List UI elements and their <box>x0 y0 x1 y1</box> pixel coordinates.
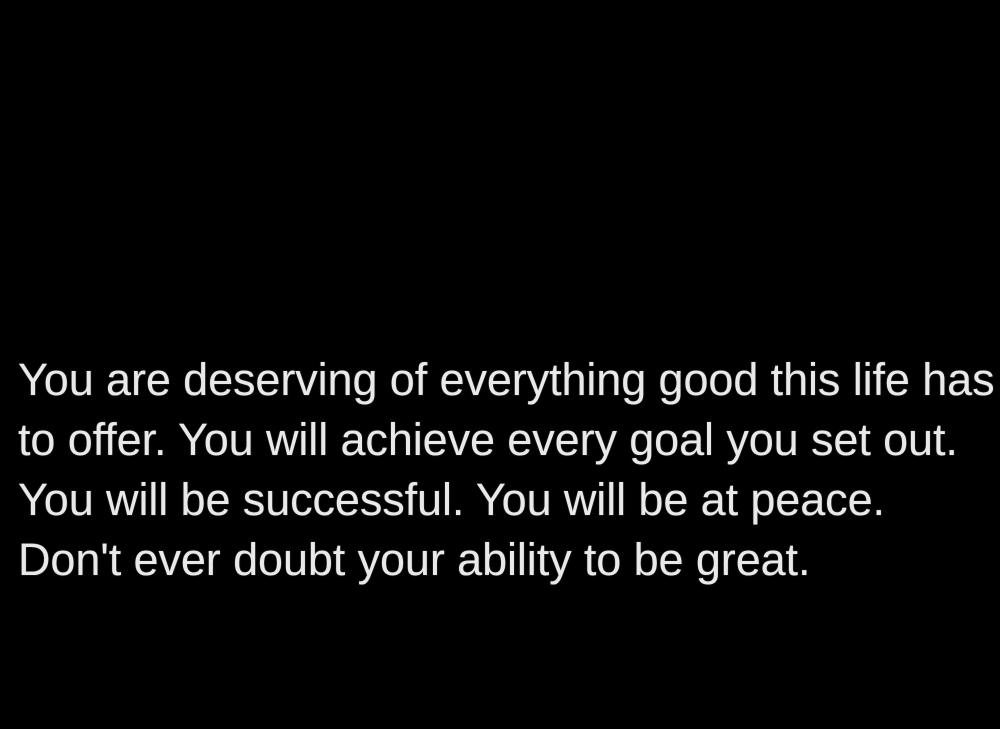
quote-line-3: You will be successful. You will be at p… <box>18 470 982 530</box>
quote-line-2: to offer. You will achieve every goal yo… <box>18 410 982 470</box>
quote-line-1: You are deserving of everything good thi… <box>18 350 982 410</box>
quote-text-block: You are deserving of everything good thi… <box>18 350 982 590</box>
quote-line-4: Don't ever doubt your ability to be grea… <box>18 530 982 590</box>
quote-image-canvas: You are deserving of everything good thi… <box>0 0 1000 729</box>
